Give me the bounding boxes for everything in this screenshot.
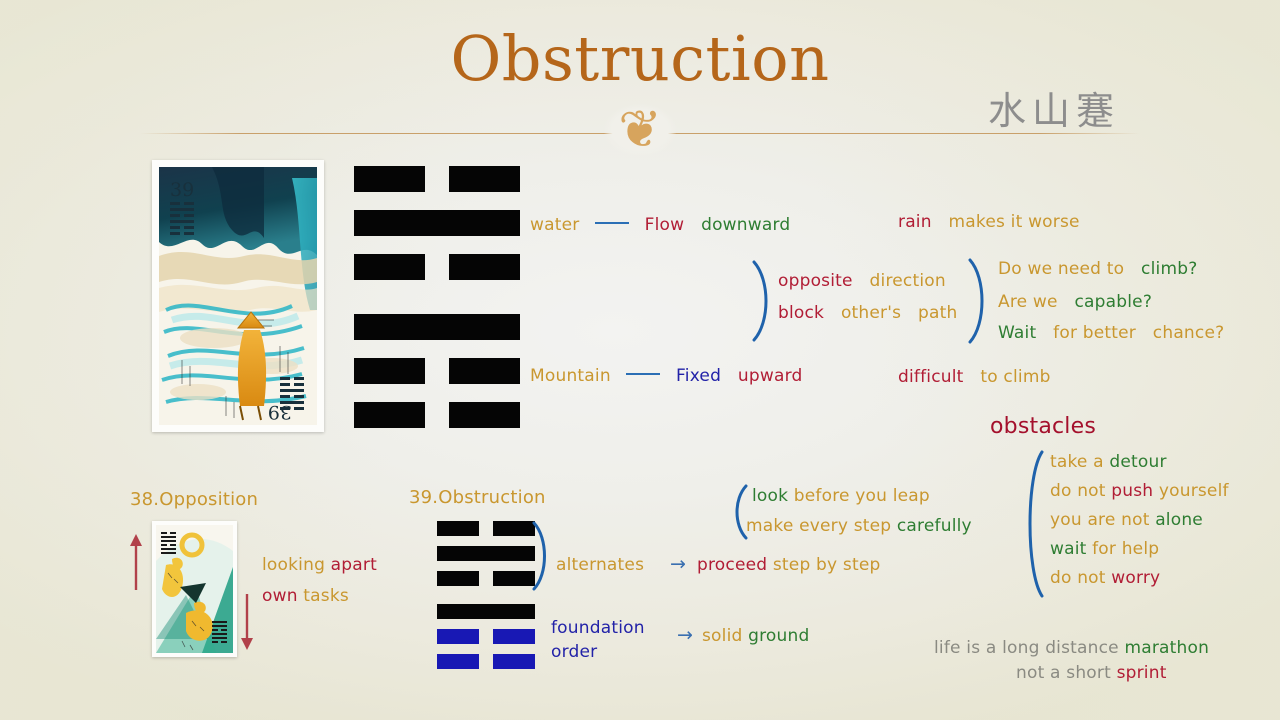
proceed-step-note: proceed step by step [697,555,880,575]
obstacle-4-part-a: wait [1050,539,1087,559]
make-every-step-note: make every step carefully [746,516,972,536]
solid-ground-note: solid ground [702,626,809,646]
mountain-row: Mountain Fixed upward [530,366,803,386]
list-item: you are not alone [1050,510,1229,530]
lower-trigram-label: Mountain [530,366,611,386]
footer-line-2: not a short sprint [1016,663,1167,683]
question-capable: Are we capable? [998,292,1152,312]
chinese-title: 水山蹇 [988,80,1120,135]
block-word: block [778,303,824,323]
apart-word: apart [331,555,377,575]
hex-line-6 [354,166,520,192]
proceed-word: proceed [697,555,767,575]
foundation-label: foundation [551,618,645,638]
slide-canvas: Obstruction 水山蹇 ❦ [0,0,1280,720]
difficult-word: difficult [898,367,964,387]
obstacle-4-part-b: for help [1087,539,1160,559]
question-wait-chance: Wait for better chance? [998,323,1224,343]
obstacle-1-part-b: detour [1109,452,1166,472]
sprint-word: sprint [1117,663,1167,683]
look-word: look [752,486,788,506]
obstacle-2-part-b: push [1111,481,1153,501]
list-item: do not worry [1050,568,1229,588]
step-by-step-words: step by step [767,555,880,575]
hex-line-2 [354,358,520,384]
solid-word: solid [702,626,748,646]
looking-apart-note: looking apart [262,555,377,575]
for-better-words: for better [1053,323,1136,343]
rain-note: rain makes it worse [898,212,1080,232]
mountain-quality: Fixed [676,366,721,386]
obstacles-heading: obstacles [990,414,1096,439]
obstacle-3-part-a: you are not [1050,510,1155,530]
carefully-word: carefully [897,516,972,536]
wait-word: Wait [998,323,1036,343]
obstacle-3-part-b: alone [1155,510,1203,530]
list-item: take a detour [1050,452,1229,472]
opposite-word: opposite [778,271,853,291]
are-we-words: Are we [998,292,1058,312]
life-is-long-distance-words: life is a long distance [934,638,1124,658]
own-word: own [262,586,303,606]
bhex-line-6 [437,521,535,536]
order-label: order [551,642,597,662]
water-direction: downward [701,215,790,235]
list-item: do not push yourself [1050,481,1229,501]
bhex-line-5 [437,546,535,561]
direction-word: direction [870,271,946,291]
obstacle-2-part-c: yourself [1153,481,1228,501]
footer-line-1: life is a long distance marathon [934,638,1209,658]
do-we-need-to-words: Do we need to [998,259,1124,279]
opposite-direction-note: opposite direction [778,271,946,291]
obstacle-5-part-a: do not [1050,568,1111,588]
top-hexagram-lines [354,166,520,446]
hexagram-39-label: 39.Obstruction [409,487,546,508]
obstacle-5-part-b: worry [1111,568,1160,588]
brace-questions-icon [964,256,992,350]
arrow-right-icon-2: → [677,624,693,646]
water-row: water Flow downward [530,215,790,235]
fleuron-ornament-icon: ❦ [604,104,676,156]
bhex-line-3 [437,604,535,619]
brace-opposite-direction-icon [748,258,776,348]
bhex-line-1 [437,654,535,669]
chance-word: chance? [1153,323,1225,343]
water-quality: Flow [645,215,685,235]
arrow-down-icon [238,592,256,658]
alternates-label: alternates [556,555,644,575]
hex-line-1 [354,402,520,428]
upper-trigram-label: water [530,215,579,235]
bhex-line-2 [437,629,535,644]
mountain-direction: upward [738,366,803,386]
not-a-short-words: not a short [1016,663,1117,683]
hex-line-3 [354,314,520,340]
obstacle-2-part-a: do not [1050,481,1111,501]
brace-obstacles-icon [1022,448,1048,604]
svg-text:39: 39 [170,179,194,201]
ground-word: ground [748,626,809,646]
make-every-step-words: make every step [746,516,897,536]
before-you-leap-words: before you leap [788,486,930,506]
svg-text:39: 39 [268,401,292,423]
to-climb-words: to climb [980,367,1050,387]
marathon-word: marathon [1124,638,1209,658]
difficult-to-climb-note: difficult to climb [898,367,1051,387]
list-item: wait for help [1050,539,1229,559]
arrow-up-icon [127,530,145,596]
block-path-note: block other's path [778,303,957,323]
brace-alternates-icon [528,520,552,596]
hexagram-38-card-image [152,521,237,657]
looking-word: looking [262,555,331,575]
connector-dash-icon-2 [626,373,660,375]
bhex-line-4 [437,571,535,586]
obstacles-list: take a detour do not push yourself you a… [1050,452,1229,597]
hexagram-38-label: 38.Opposition [130,489,258,510]
obstacle-1-part-a: take a [1050,452,1109,472]
tasks-word: tasks [303,586,349,606]
arrow-right-icon-1: → [670,553,686,575]
hex-line-4 [354,254,520,280]
capable-word: capable? [1075,292,1153,312]
bottom-hexagram-lines [437,521,535,679]
hexagram-39-card-image: 39 39 [152,160,324,432]
question-need-to-climb: Do we need to climb? [998,259,1197,279]
climb-word: climb? [1141,259,1197,279]
others-word: other's [841,303,901,323]
hex-line-5 [354,210,520,236]
look-before-leap-note: look before you leap [752,486,930,506]
own-tasks-note: own tasks [262,586,349,606]
path-word: path [918,303,957,323]
rain-word: rain [898,212,932,232]
makes-it-worse-words: makes it worse [949,212,1080,232]
connector-dash-icon [595,222,629,224]
